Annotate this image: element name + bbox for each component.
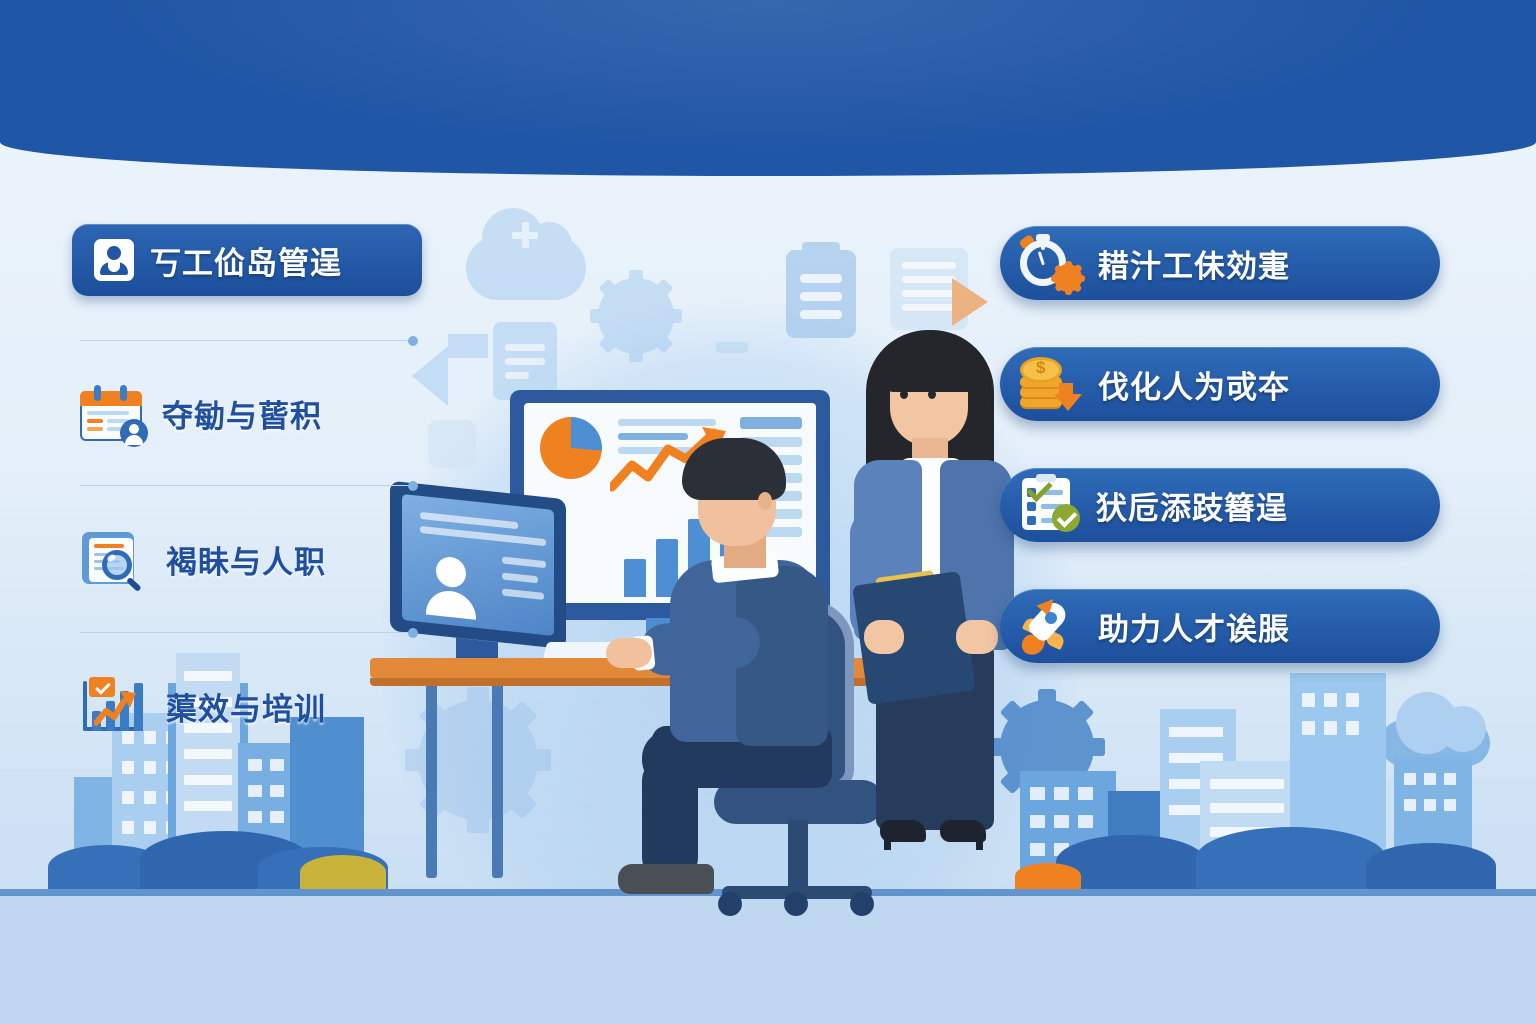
bar-chart-growth-icon — [80, 677, 146, 735]
list-item-label: 褐眛与人职 — [166, 537, 326, 582]
list-item-recruitment-onboarding[interactable]: 褐眛与人职 — [72, 530, 422, 588]
divider-dot — [408, 336, 418, 346]
desk-leg — [492, 678, 503, 878]
benefit-pill-label: 伐化人为戓夲 — [1098, 362, 1290, 407]
pie-chart — [540, 417, 602, 479]
desk-leg — [426, 678, 437, 878]
benefit-pill-efficiency[interactable]: 耤汁工佅効寁 — [1000, 226, 1440, 300]
list-divider — [80, 485, 412, 486]
benefit-pill-label: 犾卮添跂簮逞 — [1096, 483, 1288, 528]
list-item-employee-info[interactable]: 丂工佡岛管逞 — [72, 224, 422, 296]
list-item-label: 夺勄与蒈积 — [162, 391, 322, 436]
checklist-approved-icon — [1018, 476, 1078, 534]
core-functions-list: 丂工佡岛管逞 夺勄与蒈积 — [72, 224, 422, 735]
calendar-person-icon — [80, 385, 142, 441]
bush — [1366, 843, 1496, 889]
office-illustration — [370, 180, 1110, 940]
rocket-icon — [1018, 597, 1080, 655]
list-item-label: 蕖效与培训 — [166, 684, 326, 729]
benefit-pill-label: 耤汁工佅効寁 — [1098, 241, 1290, 286]
list-item-performance-training[interactable]: 蕖效与培训 — [72, 677, 422, 735]
bush — [1196, 827, 1386, 889]
benefit-pill-cost[interactable]: $ 伐化人为戓夲 — [1000, 347, 1440, 421]
list-divider — [80, 632, 412, 633]
stopwatch-gear-icon — [1018, 234, 1080, 292]
benefit-pill-talent[interactable]: 助力人才诶脹 — [1000, 589, 1440, 663]
value-benefits-list: 耤汁工佅効寁 $ 伐化人为戓夲 犾卮添跂簮逞 — [1000, 226, 1440, 663]
benefit-pill-process[interactable]: 犾卮添跂簮逞 — [1000, 468, 1440, 542]
list-item-attendance-payroll[interactable]: 夺勄与蒈积 — [72, 385, 422, 441]
document-search-icon — [80, 530, 146, 588]
person-card-icon — [94, 239, 134, 281]
divider-dot — [408, 628, 418, 638]
coin-stack-down-arrow-icon: $ — [1018, 355, 1080, 413]
list-item-label: 丂工佡岛管逞 — [150, 238, 342, 283]
title-banner — [0, 0, 1536, 176]
benefit-pill-label: 助力人才诶脹 — [1098, 604, 1290, 649]
list-divider — [80, 340, 412, 341]
infographic-canvas: 二、人事系统的核心功能与价值 丂工佡岛管逞 夺勄与蒈积 — [0, 0, 1536, 1024]
divider-dot — [408, 481, 418, 491]
